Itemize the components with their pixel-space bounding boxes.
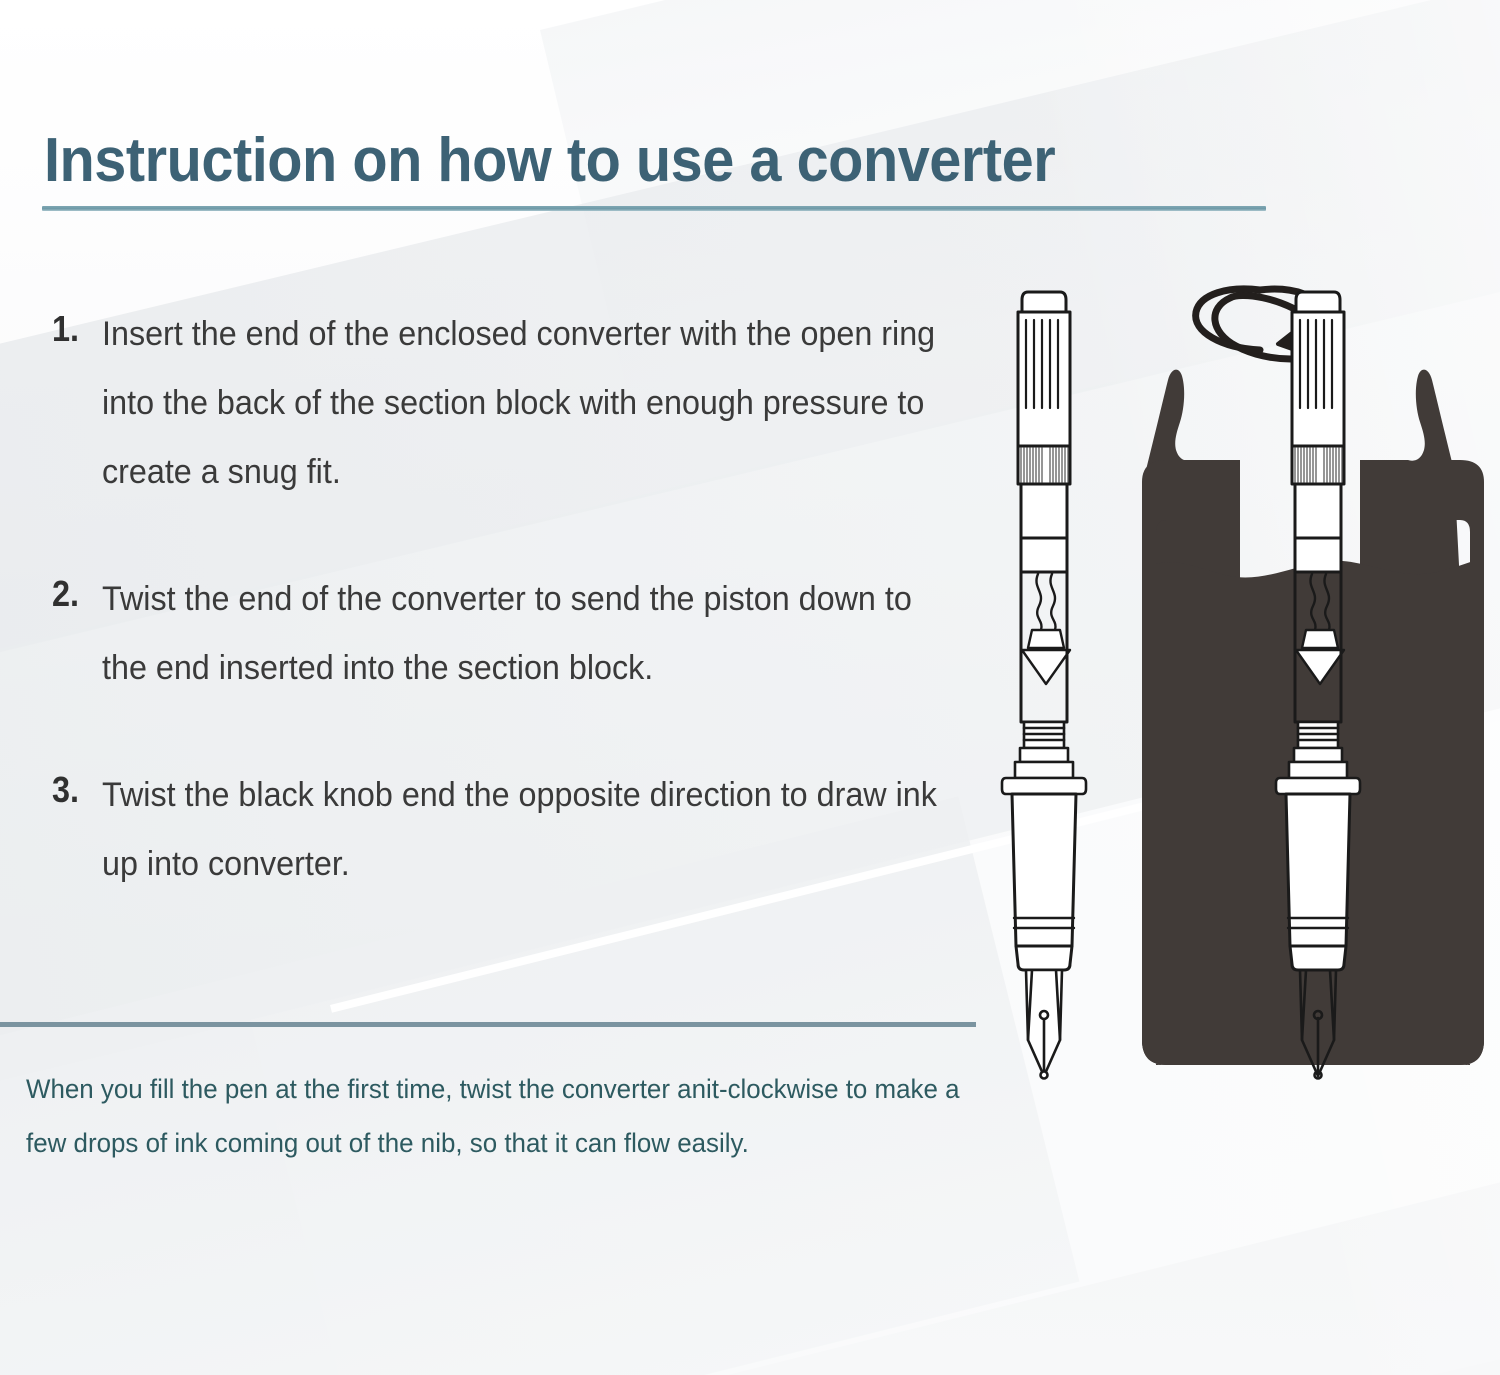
step-number: 1.: [52, 300, 97, 358]
converter-illustration: [960, 270, 1500, 1090]
left-pen-figure: [1002, 292, 1086, 1079]
list-item: 3. Twist the black knob end the opposite…: [52, 761, 982, 899]
step-text: Insert the end of the enclosed converter…: [102, 300, 938, 507]
converter-knob-cap: [1022, 292, 1066, 312]
threaded-collar: [1002, 722, 1086, 794]
step-text: Twist the end of the converter to send t…: [102, 565, 938, 703]
footer-divider: [0, 1022, 976, 1027]
footer-note: When you fill the pen at the first time,…: [26, 1062, 996, 1170]
piston-assembly: [1022, 574, 1070, 684]
converter-knob-cap: [1296, 292, 1340, 312]
instruction-step-list: 1. Insert the end of the enclosed conver…: [52, 300, 982, 957]
converter-body-mid: [1021, 538, 1067, 572]
list-item: 1. Insert the end of the enclosed conver…: [52, 300, 982, 507]
step-number: 3.: [52, 761, 97, 819]
nib: [1026, 970, 1062, 1079]
section-grip: [1012, 794, 1076, 946]
step-number: 2.: [52, 565, 97, 623]
list-item: 2. Twist the end of the converter to sen…: [52, 565, 982, 703]
converter-body-mid: [1295, 538, 1341, 572]
instruction-page: Instruction on how to use a converter 1.…: [0, 0, 1500, 1375]
title-underline: [42, 206, 1266, 211]
converter-body-upper: [1295, 484, 1341, 538]
section-grip: [1286, 794, 1350, 946]
converter-body-upper: [1021, 484, 1067, 538]
step-text: Twist the black knob end the opposite di…: [102, 761, 938, 899]
page-title: Instruction on how to use a converter: [44, 128, 1055, 193]
